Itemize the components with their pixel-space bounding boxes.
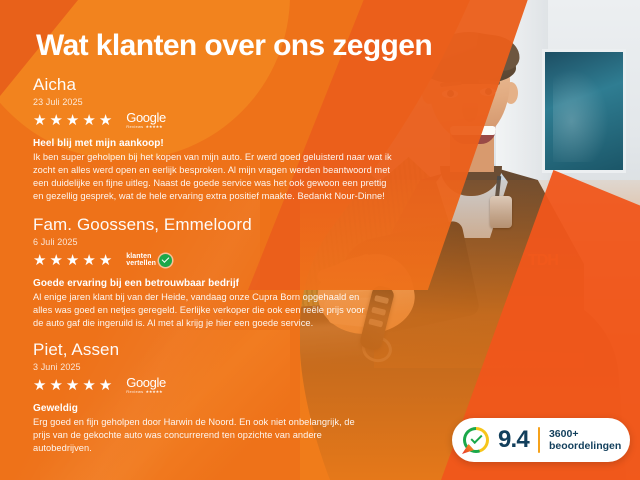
klantenvertellen-logo: klanten vertellen — [126, 253, 172, 268]
review-date: 23 Juli 2025 — [33, 97, 413, 107]
reviewer-name: Aicha — [33, 76, 413, 95]
google-wordmark: Google — [126, 376, 166, 389]
reviewer-name: Fam. Goossens, Emmeloord — [33, 216, 413, 235]
star-icon: ★ — [33, 378, 46, 393]
google-sub-text: Reviews — [126, 125, 143, 129]
verified-check-icon — [463, 427, 489, 453]
star-icon: ★ — [82, 253, 95, 268]
review-meta: ★ ★ ★ ★ ★ Google Reviews ★★★★★ — [33, 377, 413, 394]
star-icon: ★ — [66, 378, 79, 393]
google-reviews-sublabel: Reviews ★★★★★ — [126, 125, 166, 129]
review-card: Fam. Goossens, Emmeloord 6 Juli 2025 ★ ★… — [33, 216, 413, 330]
review-meta: ★ ★ ★ ★ ★ Google Reviews ★★★★★ — [33, 112, 413, 129]
star-icon: ★ — [49, 378, 62, 393]
mini-star-icons: ★★★★★ — [145, 390, 162, 394]
google-reviews-logo: Google Reviews ★★★★★ — [126, 376, 166, 394]
review-date: 6 Juli 2025 — [33, 237, 413, 247]
review-headline: Geweldig — [33, 403, 413, 414]
google-sub-text: Reviews — [126, 390, 143, 394]
kv-line-1: klanten — [126, 253, 156, 260]
star-icon: ★ — [99, 378, 112, 393]
verified-check-icon — [159, 254, 172, 267]
review-body: Al enige jaren klant bij van der Heide, … — [33, 291, 367, 331]
google-wordmark: Google — [126, 111, 166, 124]
review-meta: ★ ★ ★ ★ ★ klanten vertellen — [33, 252, 413, 269]
review-card: Piet, Assen 3 Juni 2025 ★ ★ ★ ★ ★ Google… — [33, 341, 413, 455]
star-icon: ★ — [49, 253, 62, 268]
star-rating: ★ ★ ★ ★ ★ — [33, 253, 112, 268]
reviewer-name: Piet, Assen — [33, 341, 413, 360]
rating-badge: 9.4 3600+ beoordelingen — [452, 418, 630, 462]
mini-star-icons: ★★★★★ — [145, 125, 162, 129]
star-icon: ★ — [82, 113, 95, 128]
star-icon: ★ — [33, 113, 46, 128]
google-reviews-sublabel: Reviews ★★★★★ — [126, 390, 166, 394]
rating-score: 9.4 — [498, 428, 529, 452]
banner-content: Wat klanten over ons zeggen Aicha 23 Jul… — [0, 0, 640, 480]
star-icon: ★ — [66, 113, 79, 128]
kv-line-2: vertellen — [126, 260, 156, 267]
review-headline: Goede ervaring bij een betrouwbaar bedri… — [33, 278, 413, 289]
google-reviews-logo: Google Reviews ★★★★★ — [126, 111, 166, 129]
review-date: 3 Juni 2025 — [33, 362, 413, 372]
review-headline: Heel blij met mijn aankoop! — [33, 138, 413, 149]
star-icon: ★ — [82, 378, 95, 393]
star-icon: ★ — [66, 253, 79, 268]
rating-count-label: beoordelingen — [549, 440, 621, 452]
star-icon: ★ — [99, 113, 112, 128]
klantenvertellen-wordmark: klanten vertellen — [126, 253, 156, 268]
star-rating: ★ ★ ★ ★ ★ — [33, 378, 112, 393]
star-icon: ★ — [99, 253, 112, 268]
rating-count: 3600+ — [549, 428, 621, 440]
page-title: Wat klanten over ons zeggen — [36, 31, 432, 61]
promo-banner: TDH Wat klanten over ons zeggen Aicha 23… — [0, 0, 640, 480]
review-body: Erg goed en fijn geholpen door Harwin de… — [33, 416, 367, 456]
review-body: Ik ben super geholpen bij het kopen van … — [33, 151, 399, 204]
review-card: Aicha 23 Juli 2025 ★ ★ ★ ★ ★ Google Revi… — [33, 76, 413, 204]
star-rating: ★ ★ ★ ★ ★ — [33, 113, 112, 128]
divider — [538, 427, 540, 453]
rating-count-block: 3600+ beoordelingen — [549, 428, 621, 452]
star-icon: ★ — [33, 253, 46, 268]
star-icon: ★ — [49, 113, 62, 128]
